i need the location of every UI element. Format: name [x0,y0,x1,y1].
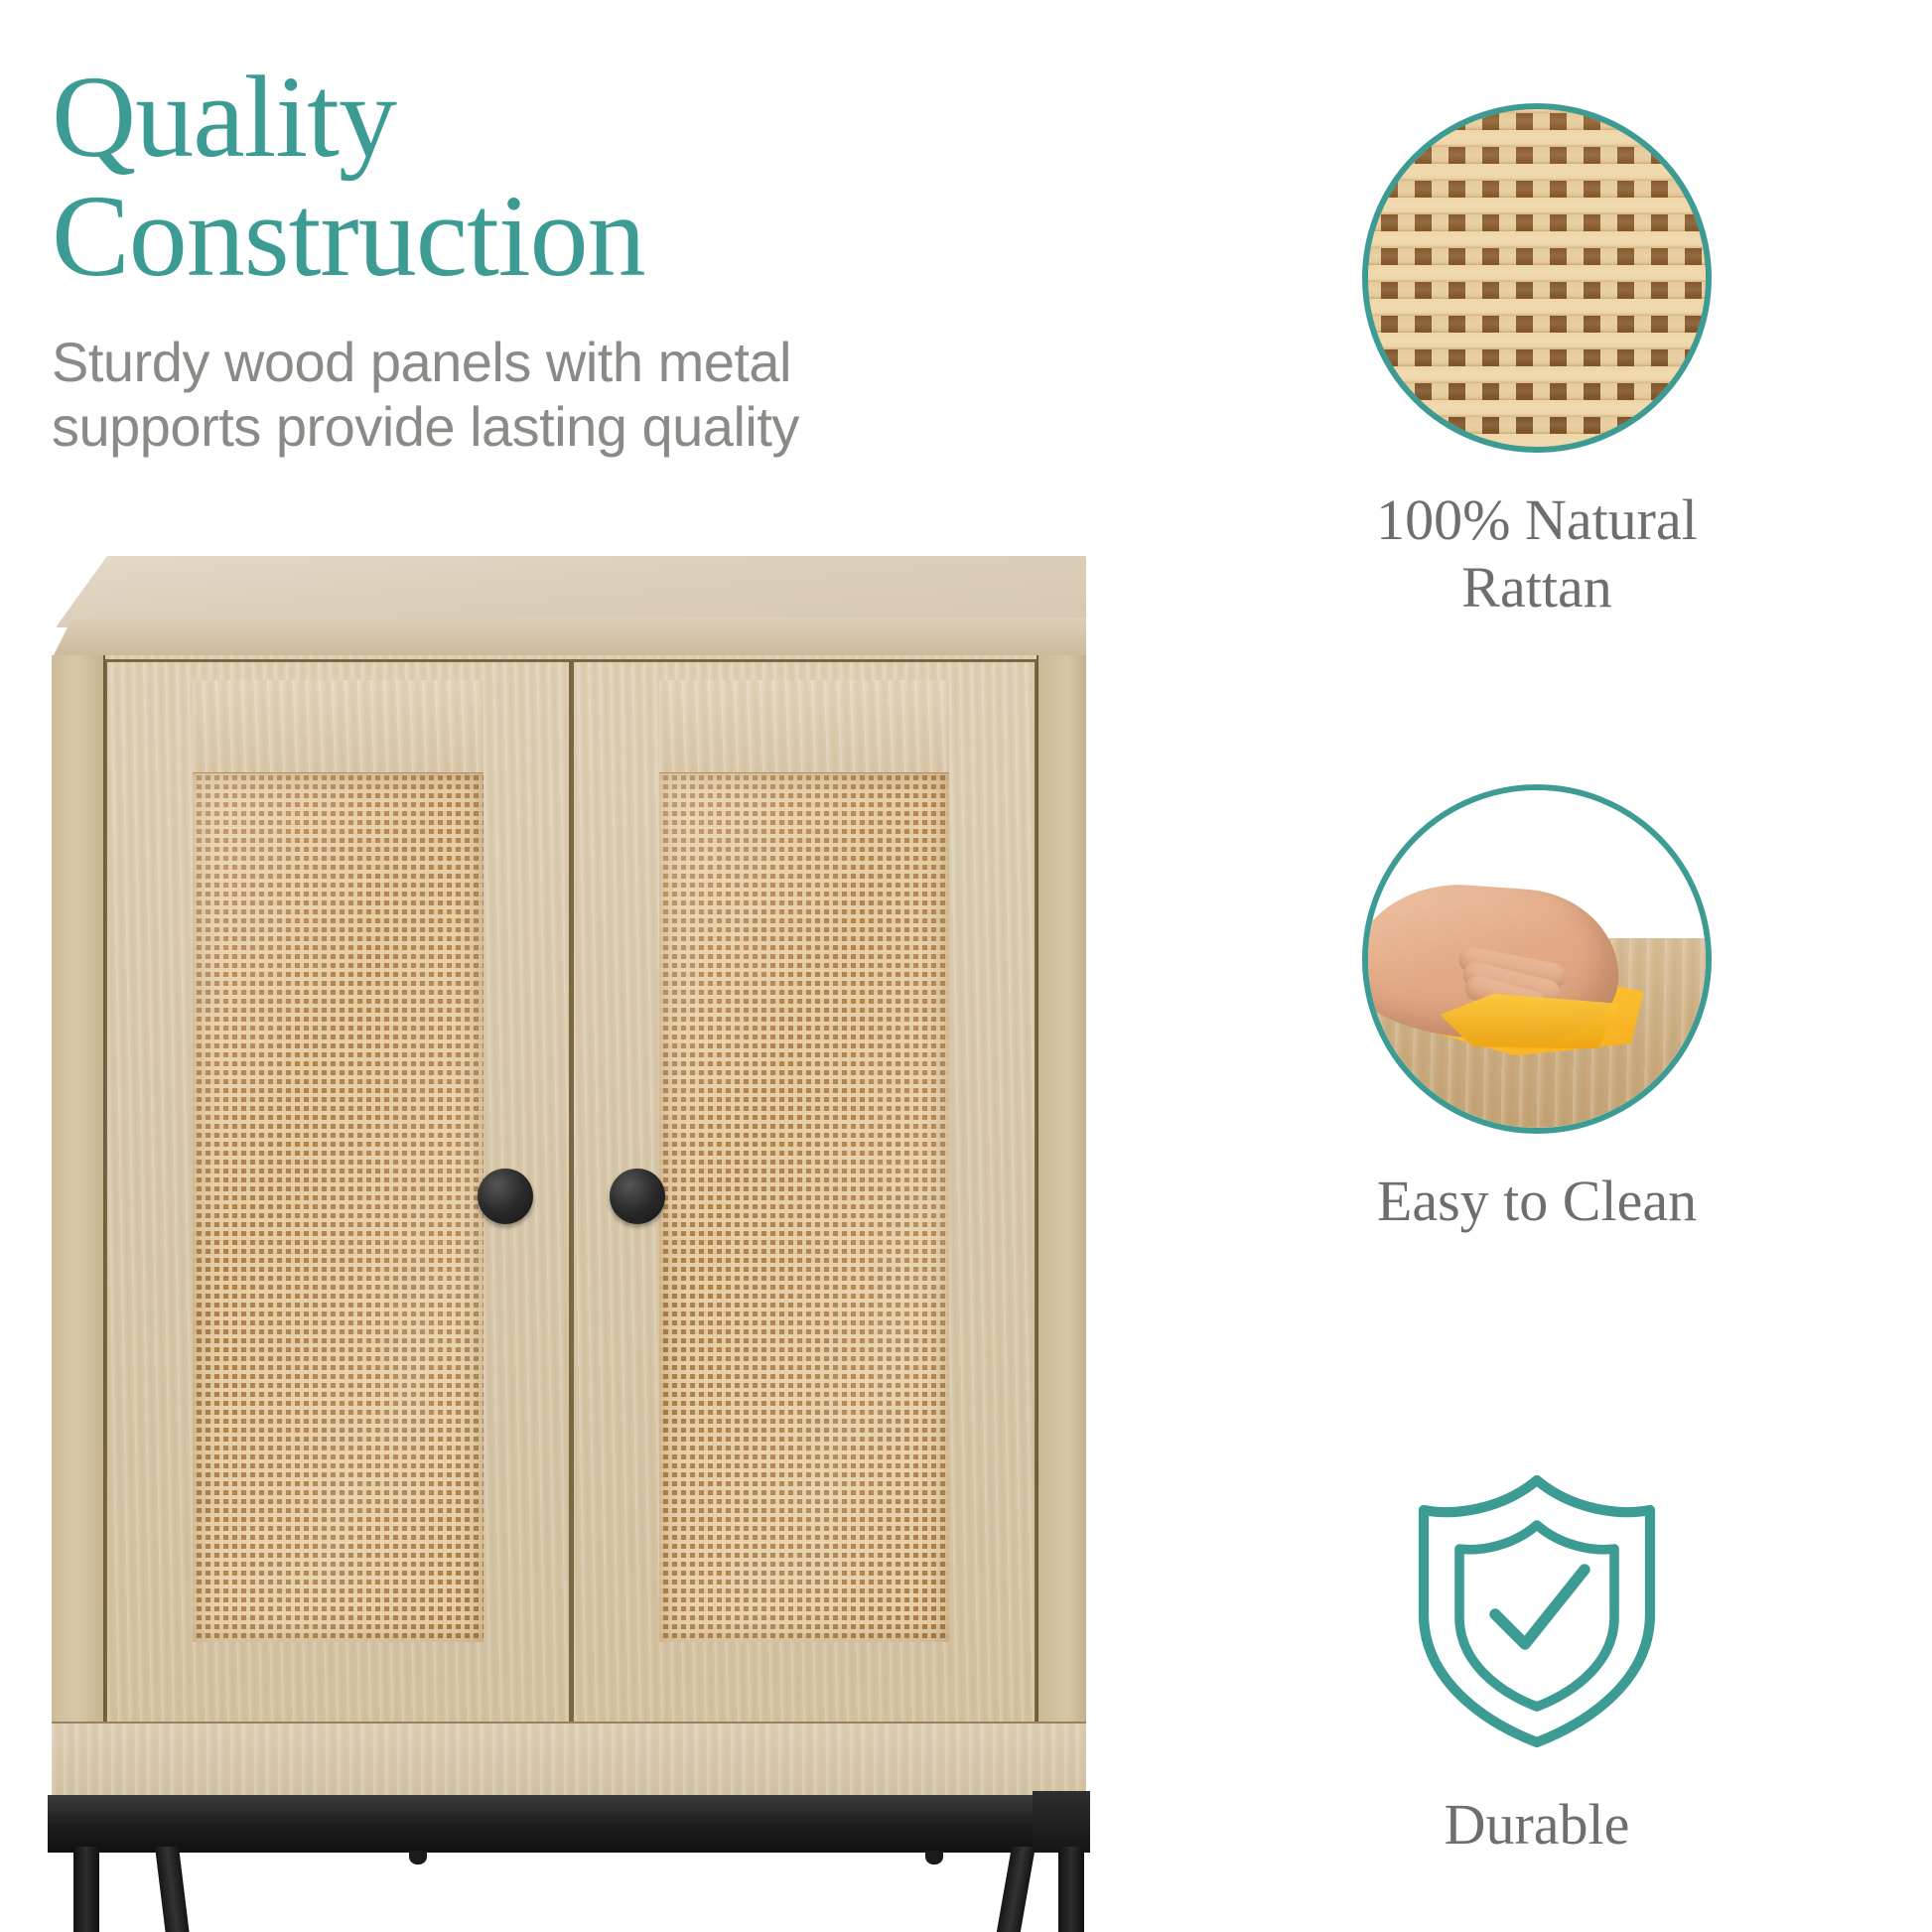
shield-check-icon [1388,1459,1686,1757]
metal-leg-front-right [1058,1847,1084,1932]
feature-natural-rattan: 100% Natural Rattan [1142,103,1932,622]
metal-base-side-rail [1033,1791,1090,1853]
feature-label: 100% Natural Rattan [1142,486,1932,622]
cabinet-top-surface [56,556,1086,627]
cabinet-right-panel [1036,655,1086,1795]
page-title: Quality Construction [52,58,1074,297]
base-support-nub [409,1851,427,1864]
door-knob-right [610,1169,665,1224]
door-top-rail [193,680,483,773]
metal-leg-rear-left [155,1847,246,1932]
page-title-line2: Construction [52,177,1074,296]
feature-label-line2: Rattan [1142,554,1932,621]
weave-texture [1364,105,1710,451]
page-subtitle-line2: supports provide lasting quality [52,395,1074,460]
feature-label: Easy to Clean [1142,1168,1932,1235]
rattan-cane-panel [659,773,950,1642]
cabinet-door-left [105,659,571,1725]
headline-block: Quality Construction Sturdy wood panels … [52,58,1074,460]
page-title-line1: Quality [52,52,396,182]
hand-wiping-cloth-icon [1362,784,1712,1134]
cleaning-scene [1364,786,1710,1132]
product-feature-infographic: Quality Construction Sturdy wood panels … [0,0,1932,1932]
rattan-weave-swatch-icon [1362,103,1712,453]
feature-label: Durable [1142,1791,1932,1859]
cabinet-bottom-rail [52,1722,1086,1795]
cabinet-doors [105,659,1036,1725]
cabinet-door-right [571,659,1037,1725]
product-image-cabinet [14,556,1126,1886]
feature-column: 100% Natural Rattan Easy to [1142,0,1932,1932]
door-top-rail [659,680,950,773]
cabinet-left-panel [52,655,105,1795]
cabinet-top-edge [52,618,1086,659]
metal-base-front-rail [48,1795,1090,1853]
feature-durable: Durable [1142,1459,1932,1859]
metal-leg-front-left [73,1847,99,1932]
feature-label-line1: 100% Natural [1376,487,1698,552]
feature-easy-to-clean: Easy to Clean [1142,784,1932,1235]
feature-label-line1: Durable [1445,1792,1630,1857]
door-knob-left [478,1169,533,1224]
page-subtitle-line1: Sturdy wood panels with metal [52,331,791,393]
page-subtitle: Sturdy wood panels with metal supports p… [52,331,1074,460]
feature-label-line1: Easy to Clean [1377,1169,1697,1233]
rattan-cane-panel [193,773,483,1642]
base-support-nub [925,1851,943,1864]
